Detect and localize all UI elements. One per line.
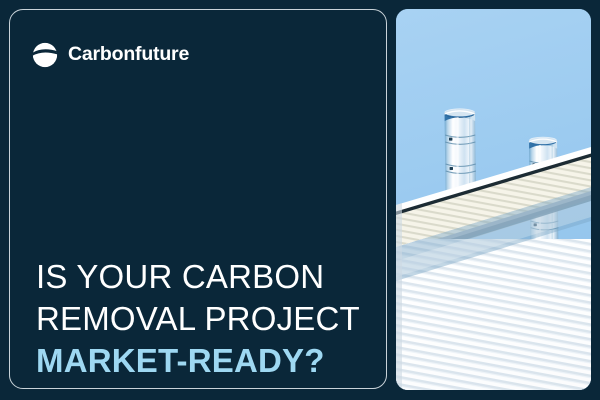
brand-logo-lockup[interactable]: Carbonfuture <box>32 42 189 68</box>
headline-line-1: IS YOUR CARBON <box>36 256 376 298</box>
headline-line-2: REMOVAL PROJECT <box>36 298 376 340</box>
carbonfuture-circle-icon <box>32 42 58 68</box>
headline-line-3-accent: MARKET-READY? <box>36 340 376 382</box>
marketing-banner: Carbonfuture IS YOUR CARBON REMOVAL PROJ… <box>0 0 600 400</box>
left-content-panel: Carbonfuture IS YOUR CARBON REMOVAL PROJ… <box>9 9 387 389</box>
brand-name: Carbonfuture <box>68 45 189 65</box>
hero-photo <box>396 9 591 390</box>
headline: IS YOUR CARBON REMOVAL PROJECT MARKET-RE… <box>36 256 376 382</box>
